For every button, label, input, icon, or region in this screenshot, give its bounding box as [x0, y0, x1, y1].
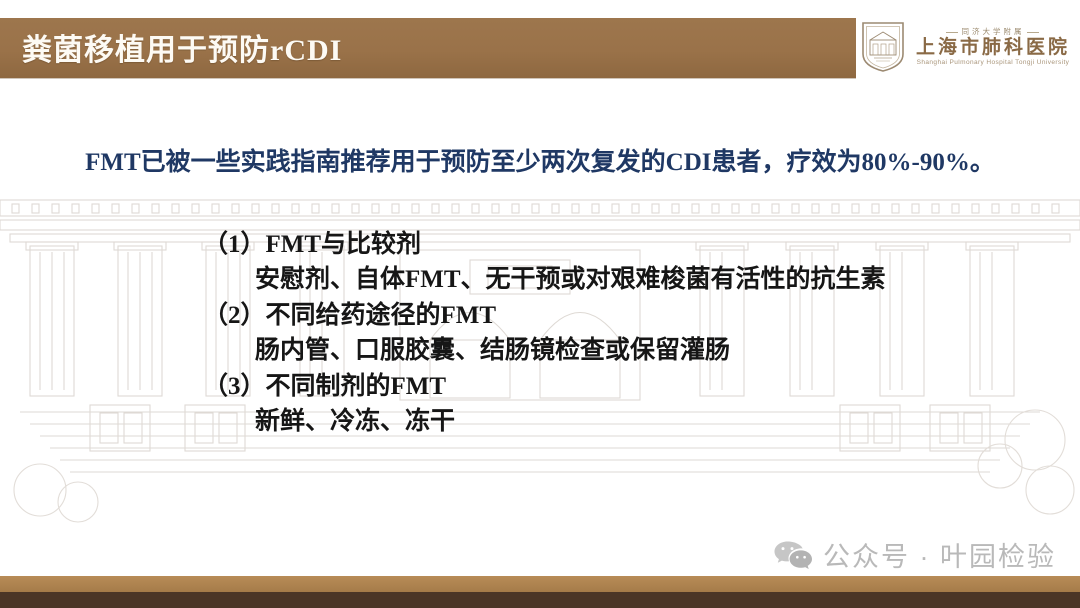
list-item: （1）FMT与比较剂 安慰剂、自体FMT、无干预或对艰难梭菌有活性的抗生素 — [203, 228, 1003, 297]
page-title: 粪菌移植用于预防rCDI — [22, 25, 342, 69]
logo-name: 上海市肺科医院 — [916, 38, 1070, 57]
list-item-heading: （2）不同给药途径的FMT — [203, 299, 1003, 334]
list-item-heading: （3）不同制剂的FMT — [203, 370, 1003, 405]
list-item-detail: 新鲜、冷冻、冻干 — [203, 405, 1003, 440]
list-item-detail: 安慰剂、自体FMT、无干预或对艰难梭菌有活性的抗生素 — [203, 263, 1003, 298]
list-item-heading: （1）FMT与比较剂 — [203, 228, 1003, 263]
list-item-detail: 肠内管、口服胶囊、结肠镜检查或保留灌肠 — [203, 334, 1003, 369]
wechat-credit-text: 公众号 · 叶园检验 — [823, 535, 1056, 574]
logo-affiliation: 同济大学附属 — [947, 28, 1038, 36]
logo-english-name: Shanghai Pulmonary Hospital Tongji Unive… — [917, 60, 1070, 67]
slide-canvas: 粪菌移植用于预防rCDI 同济大学附属 上海市肺科医院 Shanghai Pul… — [0, 0, 1080, 608]
wechat-credit: 公众号 · 叶园检验 — [773, 535, 1056, 574]
title-banner: 粪菌移植用于预防rCDI — [0, 18, 856, 78]
bottom-bar-dark — [0, 592, 1080, 608]
hospital-logo: 同济大学附属 上海市肺科医院 Shanghai Pulmonary Hospit… — [860, 16, 1070, 78]
list-item: （2）不同给药途径的FMT 肠内管、口服胶囊、结肠镜检查或保留灌肠 — [203, 299, 1003, 368]
content-list: （1）FMT与比较剂 安慰剂、自体FMT、无干预或对艰难梭菌有活性的抗生素 （2… — [203, 228, 1003, 441]
list-item: （3）不同制剂的FMT 新鲜、冷冻、冻干 — [203, 370, 1003, 439]
lead-statement: FMT已被一些实践指南推荐用于预防至少两次复发的CDI患者，疗效为80%-90%… — [0, 142, 1080, 178]
hospital-crest-icon — [860, 20, 906, 74]
wechat-icon — [773, 539, 813, 571]
bottom-bar-light — [0, 576, 1080, 592]
